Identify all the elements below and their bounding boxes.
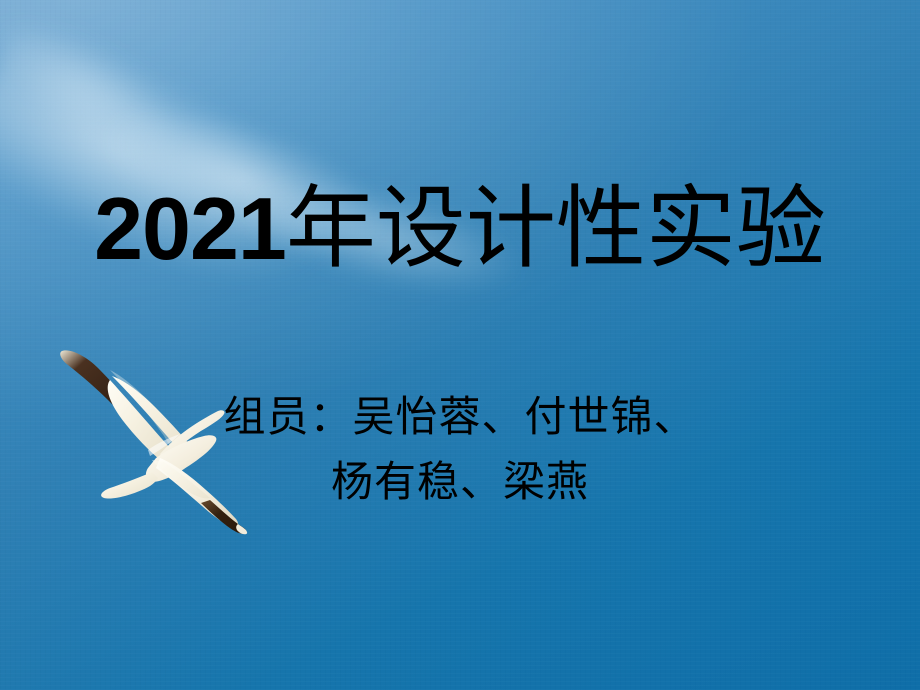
subtitle-line-2: 杨有稳、梁燕 <box>0 451 920 516</box>
presentation-title-slide: 2021年设计性实验 组员：吴怡蓉、付世锦、 杨有稳、梁燕 <box>0 0 920 690</box>
title-han: 年设计性实验 <box>286 180 826 279</box>
subtitle-line-1: 组员：吴怡蓉、付世锦、 <box>0 386 920 451</box>
title-year: 2021 <box>94 179 286 278</box>
right-wingtip-white-spot <box>236 524 247 534</box>
cloud-wisp-4 <box>0 0 205 194</box>
slide-title: 2021年设计性实验 <box>0 183 920 278</box>
slide-subtitle: 组员：吴怡蓉、付世锦、 杨有稳、梁燕 <box>0 386 920 516</box>
